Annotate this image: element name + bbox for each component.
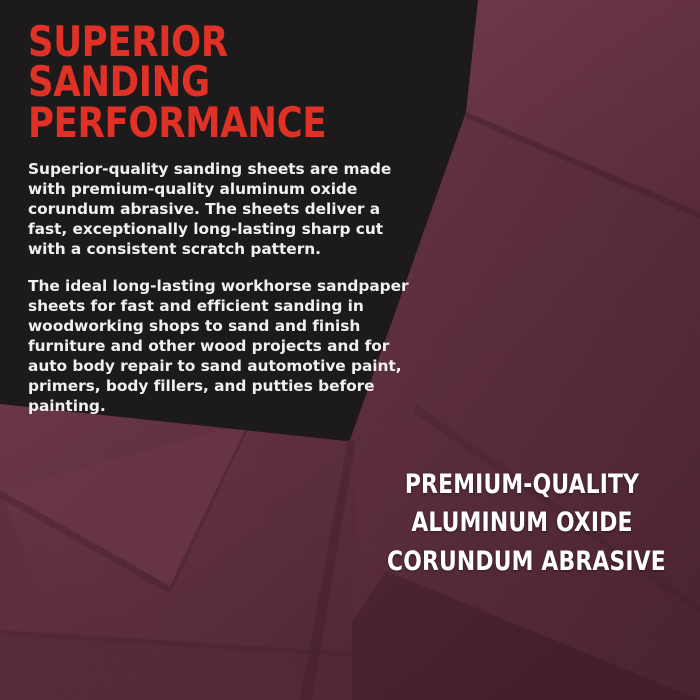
page-title: SUPERIOR SANDING PERFORMANCE	[28, 22, 396, 143]
claim-line-aluminum-oxide: ALUMINUM OXIDE	[387, 504, 657, 542]
product-marketing-poster: SUPERIOR SANDING PERFORMANCE Superior-qu…	[0, 0, 700, 700]
claim-line-premium-quality: PREMIUM-QUALITY	[387, 466, 657, 504]
editorial-copy-block: SUPERIOR SANDING PERFORMANCE Superior-qu…	[28, 22, 420, 416]
claim-line-corundum-abrasive: CORUNDUM ABRASIVE	[387, 543, 657, 581]
product-claim-block: PREMIUM-QUALITY ALUMINUM OXIDE CORUNDUM …	[372, 466, 672, 581]
body-paragraph-1: Superior-quality sanding sheets are made…	[28, 159, 420, 259]
body-paragraph-2: The ideal long-lasting workhorse sandpap…	[28, 276, 420, 416]
